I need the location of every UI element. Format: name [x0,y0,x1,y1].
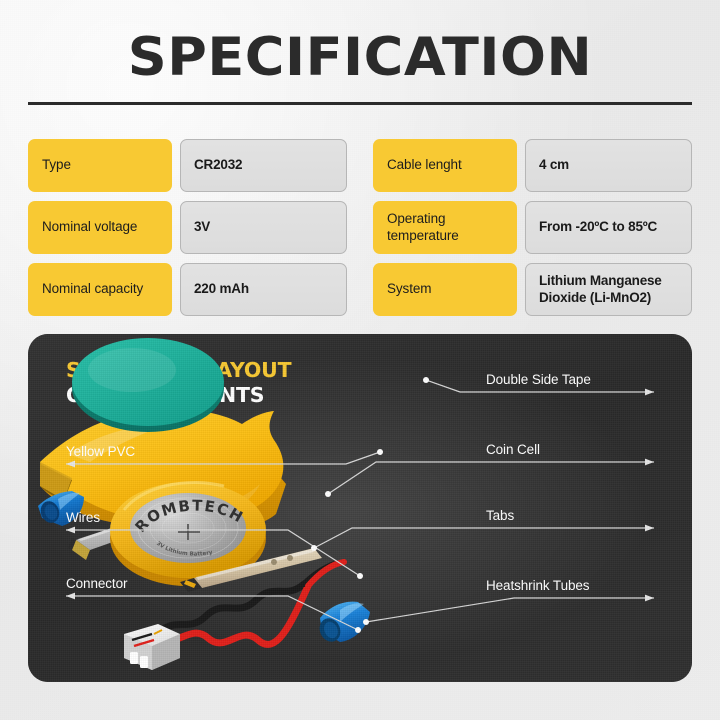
specification-table: Type CR2032 Nominal voltage 3V Nominal c… [28,139,692,316]
spec-row: Operating temperature From -20ºC to 85ºC [373,201,692,254]
callout-label-coin-cell: Coin Cell [486,442,540,458]
spec-row: Nominal voltage 3V [28,201,347,254]
spec-label-nominal-voltage: Nominal voltage [28,201,172,254]
spec-row: Type CR2032 [28,139,347,192]
spec-label-cable-length: Cable lenght [373,139,517,192]
arrowhead-icon [645,595,654,602]
spec-row: Cable lenght 4 cm [373,139,692,192]
spec-label-type: Type [28,139,172,192]
arrowhead-icon [645,459,654,466]
schematic-panel: SCHEMATIC LAYOUT OF COMPONENTS [28,334,692,682]
leader-anchor-dot [325,491,331,497]
spec-row: System Lithium Manganese Dioxide (Li-MnO… [373,263,692,316]
spec-row: Nominal capacity 220 mAh [28,263,347,316]
spec-label-system: System [373,263,517,316]
callout-leader-lines [28,334,692,682]
leader-anchor-dot [377,449,383,455]
arrowhead-icon [66,527,75,534]
spec-value-operating-temperature: From -20ºC to 85ºC [525,201,692,254]
spec-value-system: Lithium Manganese Dioxide (Li-MnO2) [525,263,692,316]
spec-value-nominal-voltage: 3V [180,201,347,254]
title-divider [28,102,692,105]
callout-label-yellow-pvc: Yellow PVC [66,444,135,460]
callout-label-connector: Connector [66,576,127,592]
arrowhead-icon [66,593,75,600]
spec-label-operating-temperature: Operating temperature [373,201,517,254]
callout-label-double-side-tape: Double Side Tape [486,372,591,388]
spec-value-nominal-capacity: 220 mAh [180,263,347,316]
leader-anchor-dot [423,377,429,383]
callout-label-heatshrink-tubes: Heatshrink Tubes [486,578,589,594]
leader-anchor-dot [363,619,369,625]
arrowhead-icon [645,389,654,396]
page-title: SPECIFICATION [0,27,720,89]
schematic-content: SCHEMATIC LAYOUT OF COMPONENTS [28,334,692,682]
spec-column-right: Cable lenght 4 cm Operating temperature … [373,139,692,316]
callout-label-tabs: Tabs [486,508,514,524]
arrowhead-icon [645,525,654,532]
spec-value-type: CR2032 [180,139,347,192]
leader-anchor-dot [355,627,361,633]
callout-label-wires: Wires [66,510,100,526]
spec-value-cable-length: 4 cm [525,139,692,192]
spec-label-nominal-capacity: Nominal capacity [28,263,172,316]
spec-column-left: Type CR2032 Nominal voltage 3V Nominal c… [28,139,347,316]
arrowhead-icon [66,461,75,468]
leader-anchor-dot [311,545,317,551]
leader-anchor-dot [357,573,363,579]
